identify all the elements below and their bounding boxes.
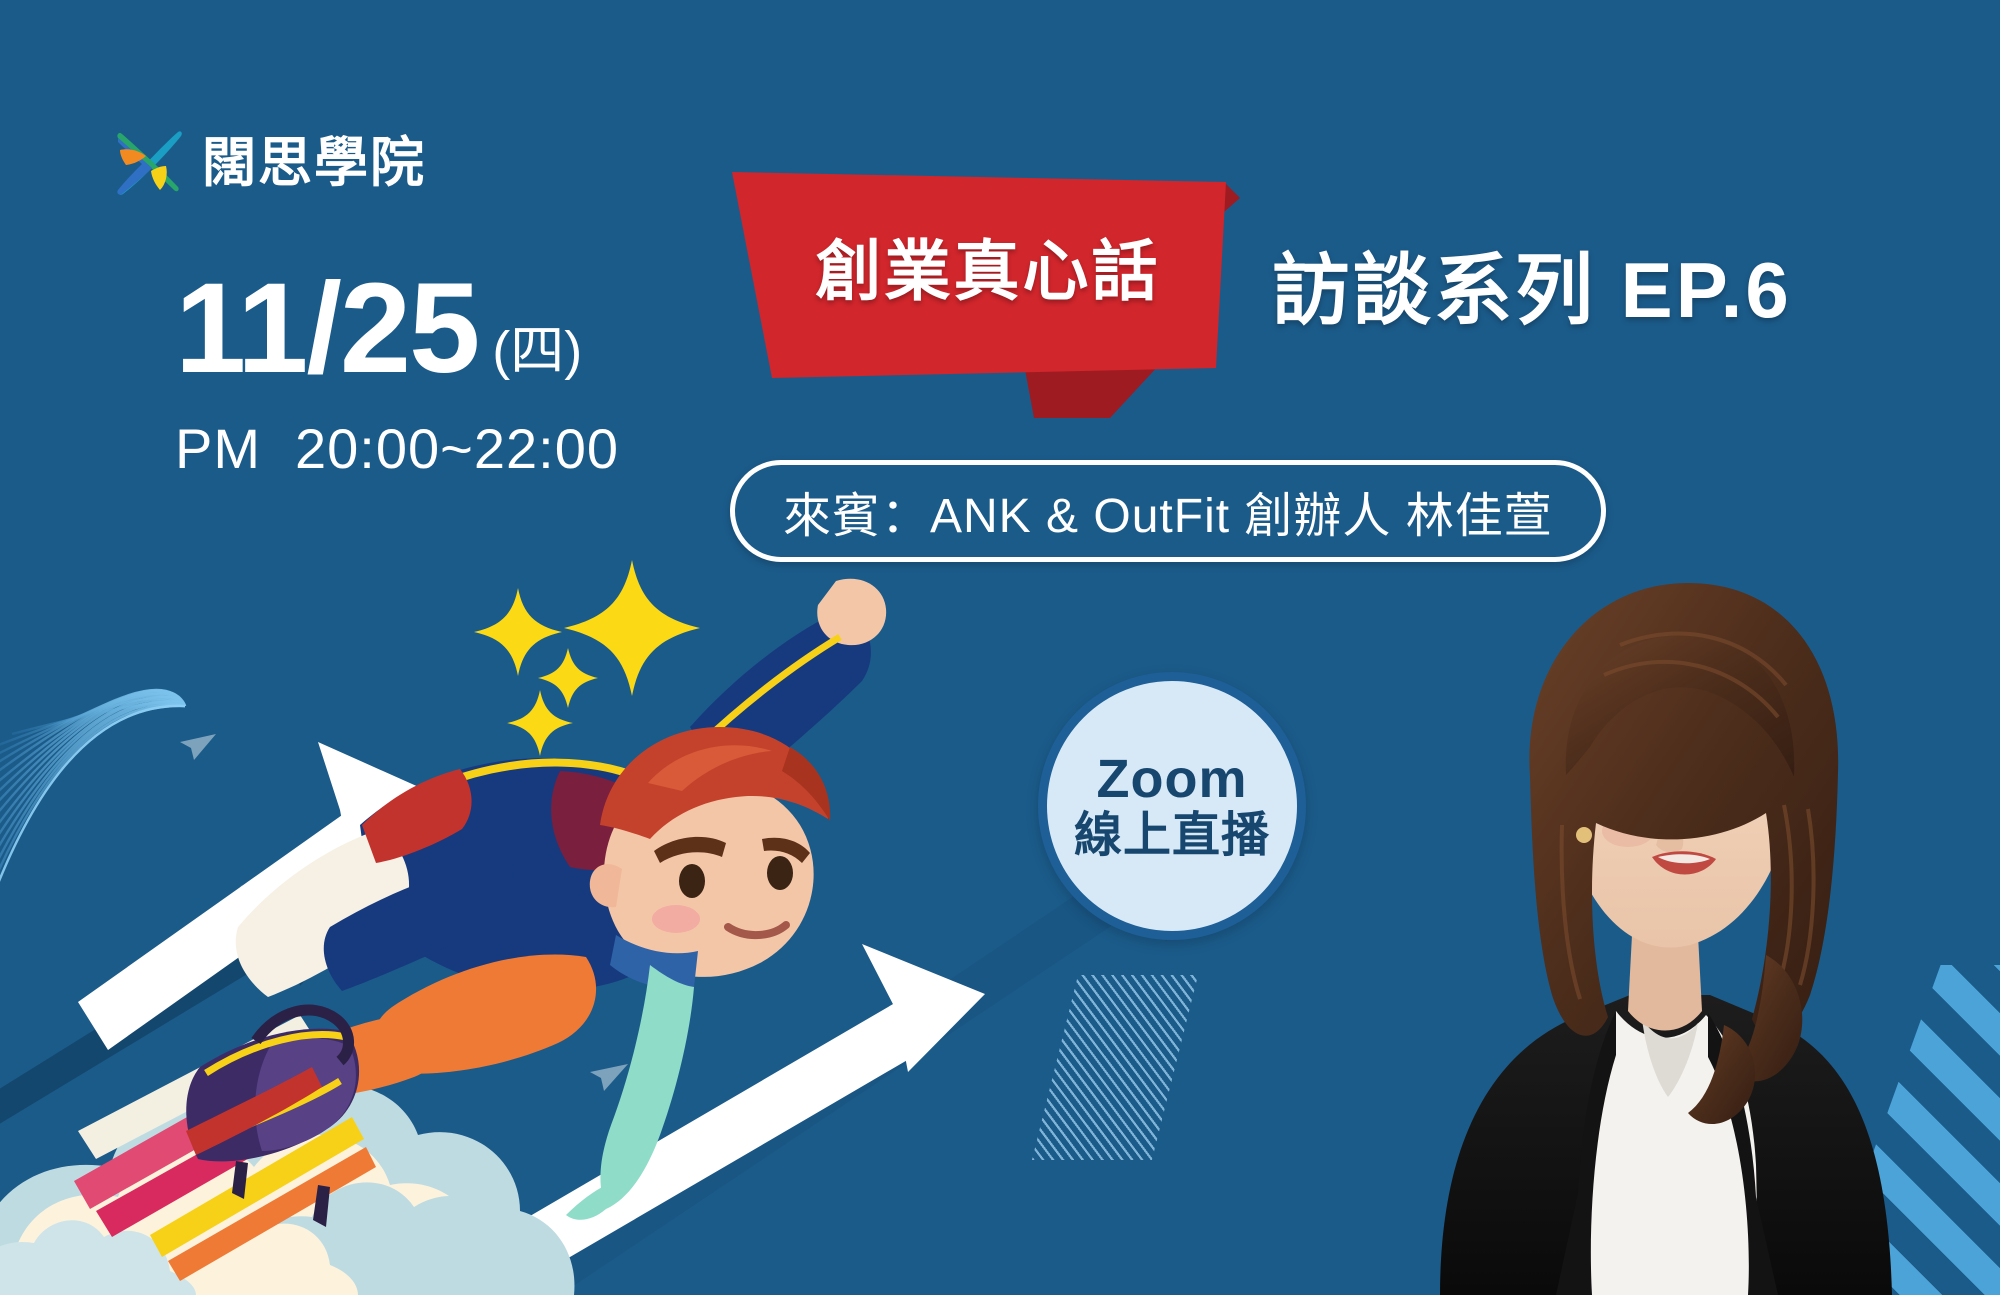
event-time: PM20:00~22:00	[175, 416, 619, 481]
brand-logo[interactable]: 闊思學院	[108, 128, 426, 198]
sparkle-star-icon	[474, 560, 700, 756]
event-day-of-week: (四)	[492, 324, 582, 390]
x-mark-logo-icon	[108, 128, 186, 198]
guest-info-pill: 來賓：ANK & OutFit 創辦人 林佳萱	[730, 460, 1606, 562]
guest-line: 來賓：ANK & OutFit 創辦人 林佳萱	[783, 476, 1553, 546]
ribbon-label: 創業真心話	[728, 168, 1248, 364]
platform-name: Zoom	[1097, 749, 1248, 809]
promo-poster: 闊思學院 11/25 (四) PM20:00~22:00 創業真心話 訪談系列 …	[0, 0, 2000, 1295]
ribbon-fold	[1024, 364, 1160, 418]
event-datetime: 11/25 (四) PM20:00~22:00	[175, 268, 619, 481]
brand-name: 闊思學院	[202, 136, 426, 190]
platform-mode: 線上直播	[1074, 809, 1270, 863]
zoom-live-badge: Zoom 線上直播	[1038, 672, 1306, 940]
event-date: 11/25	[175, 268, 478, 390]
guest-portrait-photo	[1380, 525, 1940, 1295]
series-title: 訪談系列 EP.6	[1272, 228, 1792, 340]
event-period: PM	[175, 417, 261, 480]
ribbon-banner: 創業真心話	[728, 168, 1248, 418]
event-time-range: 20:00~22:00	[295, 417, 619, 480]
